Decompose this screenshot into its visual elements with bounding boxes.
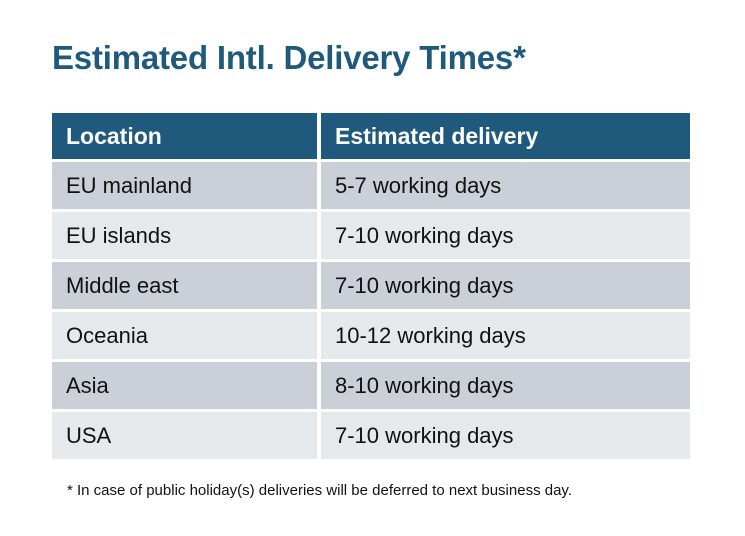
table-row: Middle east 7-10 working days [52, 262, 690, 309]
column-header-location: Location [52, 113, 317, 159]
delivery-times-card: Estimated Intl. Delivery Times* Location… [0, 0, 745, 536]
cell-location: Middle east [52, 262, 317, 309]
cell-location: EU mainland [52, 162, 317, 209]
cell-location: Asia [52, 362, 317, 409]
cell-location: Oceania [52, 312, 317, 359]
column-header-delivery: Estimated delivery [321, 113, 690, 159]
cell-location: EU islands [52, 212, 317, 259]
delivery-times-table: Location Estimated delivery EU mainland … [52, 113, 690, 459]
table-row: USA 7-10 working days [52, 412, 690, 459]
cell-delivery: 7-10 working days [321, 262, 690, 309]
cell-delivery: 10-12 working days [321, 312, 690, 359]
cell-delivery: 7-10 working days [321, 412, 690, 459]
table-row: Oceania 10-12 working days [52, 312, 690, 359]
cell-delivery: 5-7 working days [321, 162, 690, 209]
table-row: EU islands 7-10 working days [52, 212, 690, 259]
cell-delivery: 7-10 working days [321, 212, 690, 259]
table-header-row: Location Estimated delivery [52, 113, 690, 159]
cell-delivery: 8-10 working days [321, 362, 690, 409]
table-row: EU mainland 5-7 working days [52, 162, 690, 209]
table-row: Asia 8-10 working days [52, 362, 690, 409]
footnote-text: * In case of public holiday(s) deliverie… [67, 481, 572, 501]
cell-location: USA [52, 412, 317, 459]
page-title: Estimated Intl. Delivery Times* [52, 37, 526, 79]
